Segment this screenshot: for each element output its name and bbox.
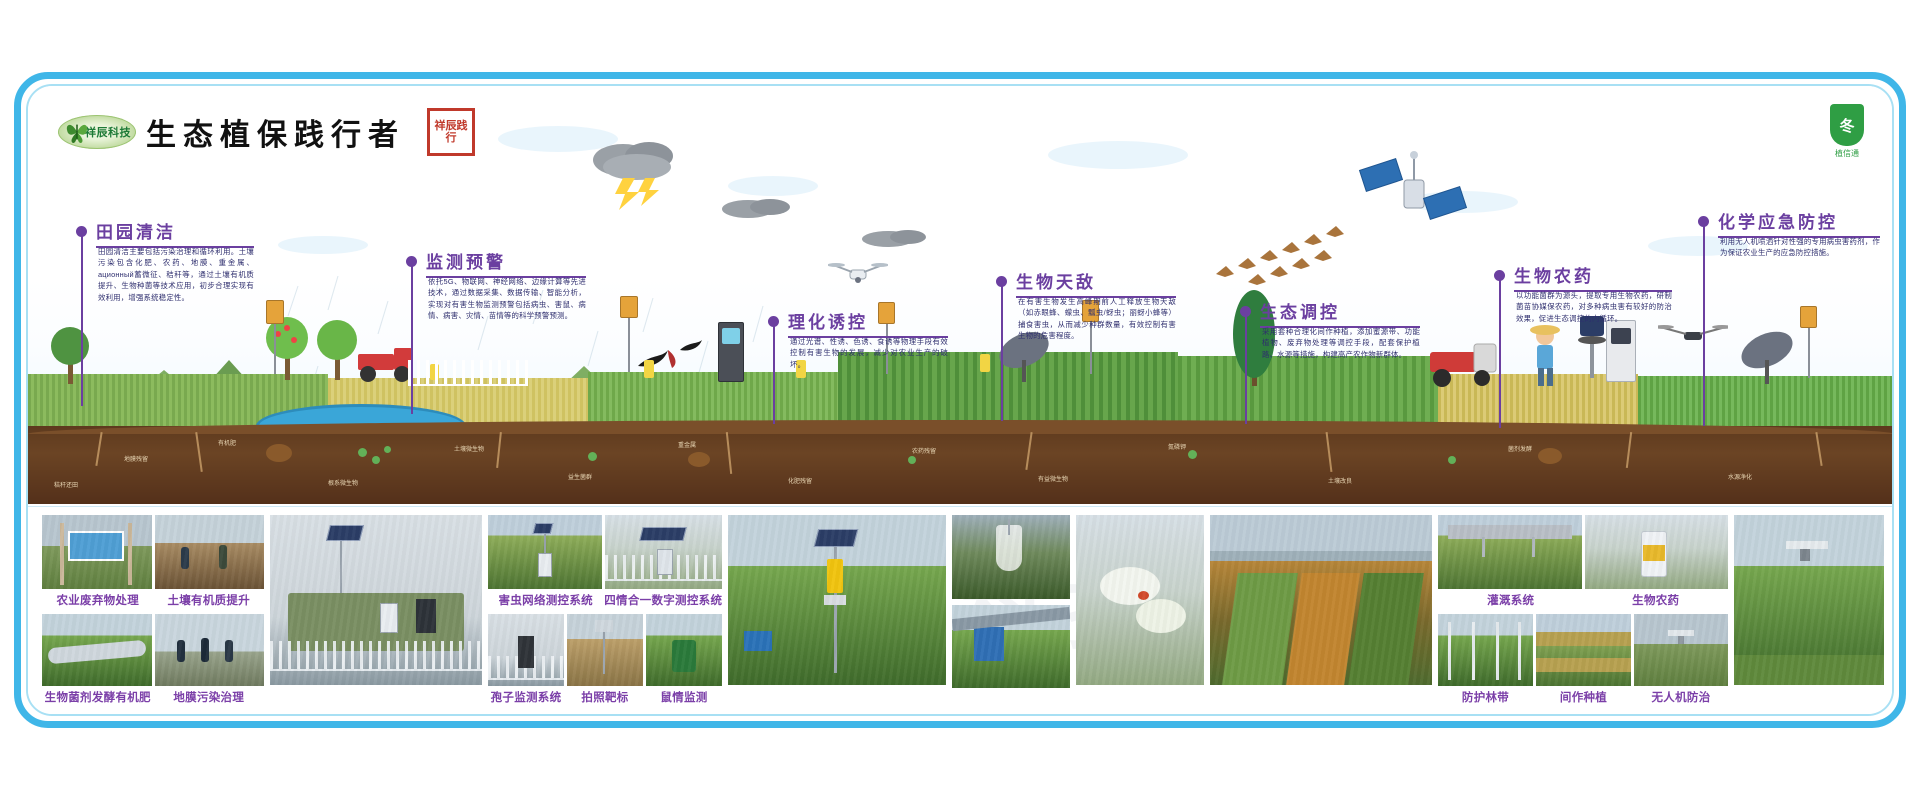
ladybug-icon (1138, 591, 1149, 600)
root-line (496, 432, 502, 468)
shield-icon: 冬 (1830, 104, 1864, 146)
gallery-column-sticky: 粘虫板 (952, 515, 1070, 716)
photo-caption: 灌溉系统 (1439, 592, 1583, 609)
field-band-corn2 (1178, 356, 1438, 430)
callout-body: 采用套种合理化间作种植，添加蜜源带、功能植物、废弃物处理等调控手段，配套保护植路… (1262, 326, 1420, 360)
page-title: 生态植保践行者 (146, 110, 405, 154)
callout-body: 田园清洁主要包括污染治理和循环利用。土壤污染包含化肥、农药、地膜、重金属、аци… (98, 246, 254, 303)
organic-matter-blob (688, 452, 710, 467)
seal-stamp: 祥辰践行 (427, 108, 475, 156)
organic-matter-blob (1538, 448, 1562, 464)
bio-pesticide-photo[interactable] (1585, 515, 1728, 589)
cloud-shape (278, 236, 368, 254)
callout-title: 生物天敌 (1016, 268, 1176, 298)
butterfly-icon (64, 119, 90, 145)
person-figure (177, 640, 185, 662)
drone-icon (828, 254, 888, 292)
spore-monitor-photo[interactable] (488, 614, 564, 686)
microbe-dot (358, 448, 367, 457)
rodent-monitor-photo[interactable] (646, 614, 722, 686)
soil-label: 化肥残留 (788, 476, 812, 485)
callout-stem (1499, 280, 1501, 428)
gallery-column-func-plant: 功能植物生态调控 (1210, 515, 1432, 716)
callout-stem (1001, 286, 1003, 421)
root-line (1326, 432, 1333, 472)
soil-label: 农药残留 (912, 446, 936, 455)
functional-plant-photo[interactable] (1210, 515, 1432, 685)
solar-panel-icon (533, 523, 554, 534)
callout-body: 在有害生物发生高峰期前人工释放生物天敌（如赤眼蜂、蠓虫、瓢虫/蚜虫；丽蚜小蜂等）… (1018, 296, 1176, 342)
callout-stem (1703, 226, 1705, 426)
intercropping-photo[interactable] (1536, 614, 1631, 686)
caption-row-top: 农业废弃物处理 土壤有机质提升 (42, 592, 264, 609)
sensor-pole (1808, 322, 1810, 378)
person-figure (225, 640, 233, 662)
sensor-box (620, 296, 638, 318)
company-logo-text: 祥辰科技 (85, 124, 136, 140)
callout-title: 生态调控 (1260, 298, 1420, 328)
gallery-column-monitor: 害虫网络测控系统 四情合一数字测控系统 (488, 515, 722, 706)
caption-row-top: 灌溉系统 生物农药 (1438, 592, 1728, 609)
mast-pole (544, 525, 546, 575)
callout-title: 监测预警 (426, 248, 586, 278)
plot-fence (605, 555, 722, 581)
organic-matter-blob (266, 444, 292, 462)
irrigation-system-photo[interactable] (1438, 515, 1582, 589)
photo-gallery: 祥辰科技 农业废弃物处理 土壤有机质提升 (28, 506, 1894, 716)
callout-stem (411, 266, 413, 414)
callout-title: 理化诱控 (788, 308, 948, 338)
bio-ferment-photo[interactable] (42, 614, 152, 686)
sensor-box (266, 300, 284, 324)
brand-header: 祥辰科技 生态植保践行者 祥辰践行 (58, 108, 475, 156)
root-line (1626, 432, 1632, 468)
plot-fence (408, 360, 528, 386)
microbe-dot (384, 446, 391, 453)
company-logo: 祥辰科技 (58, 115, 136, 149)
gallery-column-irrigation: 灌溉系统 生物农药 (1438, 515, 1728, 706)
scene-illustration: 祥辰科技 生态植保践行者 祥辰践行 冬 植信通 (28, 86, 1894, 504)
geese-flock-icon (1208, 216, 1398, 296)
plot-fence (488, 656, 564, 680)
cloud-icon (858, 226, 938, 252)
microbe-dot (908, 456, 916, 464)
poster-root: 祥辰科技 生态植保践行者 祥辰践行 冬 植信通 (0, 0, 1920, 800)
photo-caption: 害虫网络测控系统 (489, 592, 603, 609)
microbe-dot (1448, 456, 1456, 464)
photo-caption: 四情合一数字测控系统 (604, 592, 721, 609)
photo-caption: 防护林带 (1438, 689, 1533, 706)
photo-caption: 孢子监测系统 (488, 689, 564, 706)
weather-station-screen (722, 328, 740, 344)
soil-label: 益生菌群 (568, 472, 592, 481)
microbe-dot (588, 452, 597, 461)
caption-row-bottom: 生物菌剂发酵有机肥 地膜污染治理 (42, 689, 264, 706)
plot-fence (270, 641, 482, 671)
sensor-pole (274, 318, 276, 374)
person-figure (181, 547, 189, 569)
sticky-board-top-photo[interactable] (952, 515, 1070, 599)
person-figure (219, 545, 227, 569)
cloud-icon (718, 194, 798, 224)
chemical-emergency-photo[interactable] (1734, 515, 1884, 685)
soil-label: 有机肥 (218, 438, 236, 447)
root-line (1815, 432, 1822, 466)
four-in-one-photo[interactable] (605, 515, 722, 589)
photo-caption: 鼠情监测 (646, 689, 722, 706)
flower-cluster (1136, 599, 1186, 633)
solar-panel-icon (326, 525, 364, 541)
soil-label: 菌剂发酵 (1508, 444, 1532, 453)
sticky-trap (644, 360, 654, 378)
natural-enemy-photo[interactable] (1076, 515, 1204, 685)
callout-body: 利用无人机喷洒针对性强的专用病虫害药剂，作为保证农业生产的应急防控措施。 (1720, 236, 1880, 259)
root-line (95, 432, 102, 466)
solar-panel-icon (639, 527, 686, 541)
sticky-trap (980, 354, 990, 372)
photo-caption: 拍照靶标 (567, 689, 643, 706)
soil-label: 根系微生物 (328, 478, 358, 487)
soil-layer: 秸秆还田 地膜残留 有机肥 根系微生物 土壤微生物 益生菌群 重金属 化肥残留 … (28, 426, 1894, 504)
soil-label: 重金属 (678, 440, 696, 449)
control-cabinet-panel (1611, 328, 1631, 344)
cloud-shape (1048, 141, 1188, 169)
partner-logo: 冬 植信通 (1826, 104, 1868, 159)
pest-network-photo[interactable] (488, 515, 602, 589)
storm-cloud-icon (583, 134, 693, 214)
soil-label: 有益微生物 (1038, 474, 1068, 483)
callout-body: 依托5G、物联网、神经网络、边缘计算等先进技术，通过数据采集、数据传输、智能分析… (428, 276, 586, 322)
inner-frame: 祥辰科技 生态植保践行者 祥辰践行 冬 植信通 (26, 84, 1894, 716)
callout-body: 通过光谱、性诱、色诱、食诱等物理手段有效控制有害生物的发展，减少对农业生产的破坏… (790, 336, 948, 370)
gallery-column-enemies: 生物天敌防治 (1076, 515, 1204, 716)
root-line (1025, 432, 1032, 470)
shelter-belt-photo[interactable] (1438, 614, 1533, 686)
gallery-column-waste: 农业废弃物处理 土壤有机质提升 生物菌剂发酵有机肥 地膜污染治理 (42, 515, 264, 706)
soil-label: 水源净化 (1728, 472, 1752, 481)
photo-caption: 生物菌剂发酵有机肥 (43, 689, 153, 706)
microbe-dot (1188, 450, 1197, 459)
caption-row-top: 害虫网络测控系统 四情合一数字测控系统 (488, 592, 722, 609)
solar-insect-lamp-photo[interactable] (728, 515, 946, 685)
callout-stem (1245, 316, 1247, 424)
cloud-shape (728, 176, 818, 196)
gallery-column-5g: 5G+工业互联网现代农业应用场景 (270, 515, 482, 716)
photo-caption: 农业废弃物处理 (43, 592, 153, 609)
callout-title: 生物农药 (1514, 262, 1672, 292)
person-figure (201, 638, 209, 662)
soil-label: 地膜残留 (124, 454, 148, 463)
photo-caption: 无人机防治 (1634, 689, 1728, 706)
film-pollution-photo[interactable] (155, 614, 264, 686)
callout-stem (81, 236, 83, 406)
root-line (726, 432, 732, 474)
partner-logo-label: 植信通 (1826, 148, 1868, 159)
caption-row-bottom: 防护林带 间作种植 无人机防治 (1438, 689, 1728, 706)
callout-body: 以功能菌群为源头，提取专用生物农药，研制菌苗协媒保农药，对多种病虫害有较好的防治… (1516, 290, 1672, 324)
harvester-icon (1416, 338, 1504, 388)
mast-pole (603, 622, 605, 674)
caption-row-bottom: 孢子监测系统 拍照靶标 鼠情监测 (488, 689, 722, 706)
soil-label: 秸秆还田 (54, 480, 78, 489)
photo-caption: 土壤有机质提升 (154, 592, 263, 609)
gallery-column-chem: 化学应急防控 (1734, 515, 1884, 716)
satellite-dish-icon (1736, 328, 1798, 386)
flower-cluster (1100, 567, 1160, 605)
spray-drone-icon (1658, 320, 1728, 354)
microbe-dot (372, 456, 380, 464)
root-line (195, 432, 203, 472)
farmer-icon (1526, 322, 1564, 386)
tree-icon (48, 314, 92, 384)
callout-title: 化学应急防控 (1718, 208, 1880, 238)
mast-pole (834, 533, 837, 673)
sticky-board-bottom-photo[interactable] (952, 605, 1070, 688)
soil-label: 氮磷钾 (1168, 442, 1186, 451)
5g-station-photo[interactable] (270, 515, 482, 685)
callout-stem (773, 326, 775, 424)
sensor-pole (628, 312, 630, 372)
soil-label: 土壤改良 (1328, 476, 1352, 485)
solar-panel-icon (814, 529, 858, 547)
gallery-column-solar-lamp: 太阳能杀虫灯 (728, 515, 946, 716)
photo-caption: 地膜污染治理 (154, 689, 263, 706)
soil-organic-photo[interactable] (155, 515, 264, 589)
photo-caption: 间作种植 (1536, 689, 1631, 706)
callout-title: 田园清洁 (96, 218, 254, 248)
soil-label: 土壤微生物 (454, 444, 484, 453)
drone-control-photo[interactable] (1634, 614, 1728, 686)
photo-target-photo[interactable] (567, 614, 643, 686)
mast-pole (340, 527, 342, 647)
photo-caption: 生物农药 (1584, 592, 1727, 609)
mast-pole (1008, 519, 1010, 535)
sensor-box (1800, 306, 1817, 328)
agri-waste-sign-photo[interactable] (42, 515, 152, 589)
